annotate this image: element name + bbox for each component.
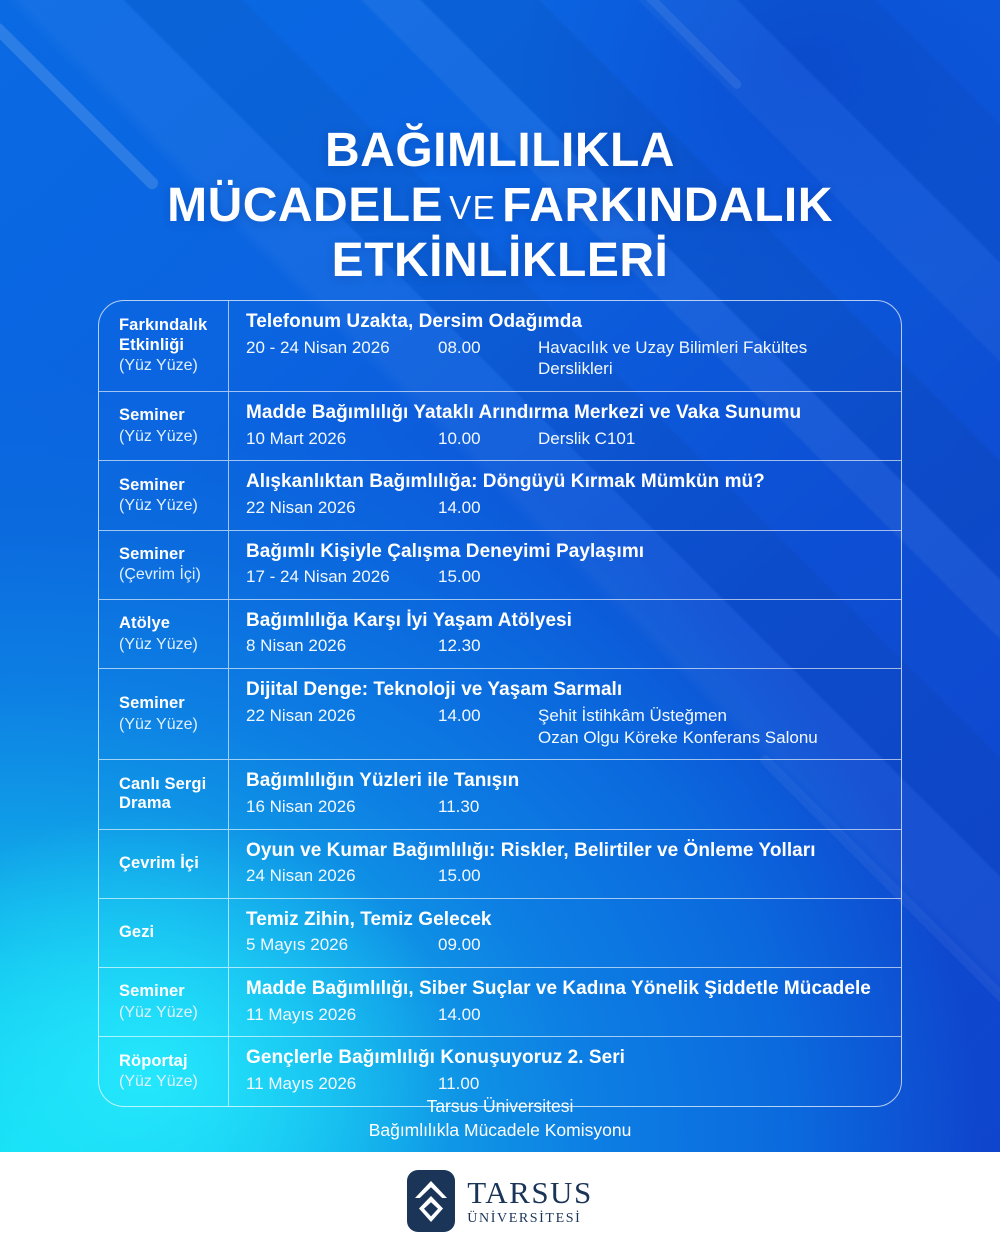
event-time: 14.00 — [438, 1004, 538, 1026]
table-row: GeziTemiz Zihin, Temiz Gelecek5 Mayıs 20… — [99, 899, 901, 968]
table-row: Seminer(Yüz Yüze)Dijital Denge: Teknoloj… — [99, 669, 901, 760]
event-time: 14.00 — [438, 705, 538, 727]
event-title: Bağımlılığın Yüzleri ile Tanışın — [246, 769, 887, 793]
table-row: Seminer(Yüz Yüze)Alışkanlıktan Bağımlılı… — [99, 461, 901, 530]
event-category-label: Gezi — [119, 923, 228, 942]
logo-sub-text: ÜNİVERSİTESİ — [467, 1212, 581, 1226]
event-date: 17 - 24 Nisan 2026 — [246, 566, 438, 588]
event-title: Madde Bağımlılığı Yataklı Arındırma Merk… — [246, 401, 887, 425]
event-date: 16 Nisan 2026 — [246, 796, 438, 818]
event-title: Gençlerle Bağımlılığı Konuşuyoruz 2. Ser… — [246, 1046, 887, 1070]
event-location: Derslik C101 — [538, 428, 887, 450]
event-details-cell: Madde Bağımlılığı, Siber Suçlar ve Kadın… — [229, 968, 901, 1036]
table-row: Atölye(Yüz Yüze)Bağımlılığa Karşı İyi Ya… — [99, 600, 901, 669]
event-location: Havacılık ve Uzay Bilimleri Fakültes Der… — [538, 337, 887, 381]
event-date: 10 Mart 2026 — [246, 428, 438, 450]
event-time: 14.00 — [438, 497, 538, 519]
title-line-2: MÜCADELEVEFARKINDALIK — [0, 179, 1000, 234]
event-time: 12.30 — [438, 635, 538, 657]
event-meta: 10 Mart 202610.00Derslik C101 — [246, 428, 887, 450]
event-meta: 24 Nisan 202615.00 — [246, 865, 887, 887]
logo-band: TARSUS ÜNİVERSİTESİ — [0, 1152, 1000, 1250]
event-details-cell: Bağımlı Kişiyle Çalışma Deneyimi Paylaşı… — [229, 531, 901, 599]
event-details-cell: Telefonum Uzakta, Dersim Odağımda20 - 24… — [229, 301, 901, 391]
event-date: 11 Mayıs 2026 — [246, 1073, 438, 1095]
event-mode-label: (Çevrim İçi) — [119, 565, 228, 584]
event-category-label: Farkındalık Etkinliği — [119, 316, 228, 355]
event-category-cell: Atölye(Yüz Yüze) — [99, 600, 229, 668]
table-row: Farkındalık Etkinliği(Yüz Yüze)Telefonum… — [99, 301, 901, 392]
event-meta: 11 Mayıs 202611.00 — [246, 1073, 887, 1095]
event-title: Temiz Zihin, Temiz Gelecek — [246, 908, 887, 932]
event-title: Telefonum Uzakta, Dersim Odağımda — [246, 310, 887, 334]
event-meta: 11 Mayıs 202614.00 — [246, 1004, 887, 1026]
event-category-label: Çevrim İçi — [119, 854, 228, 873]
event-time: 10.00 — [438, 428, 538, 450]
table-row: Seminer(Yüz Yüze)Madde Bağımlılığı, Sibe… — [99, 968, 901, 1037]
organization-credit: Tarsus Üniversitesi Bağımlılıkla Mücadel… — [0, 1094, 1000, 1142]
event-category-cell: Farkındalık Etkinliği(Yüz Yüze) — [99, 301, 229, 391]
event-date: 20 - 24 Nisan 2026 — [246, 337, 438, 359]
event-time: 08.00 — [438, 337, 538, 359]
event-category-label: Seminer — [119, 476, 228, 495]
title-word-mucadele: MÜCADELE — [167, 179, 443, 232]
event-category-label: Seminer — [119, 545, 228, 564]
table-row: Canlı Sergi DramaBağımlılığın Yüzleri il… — [99, 760, 901, 829]
event-meta: 5 Mayıs 202609.00 — [246, 934, 887, 956]
event-poster: BAĞIMLILIKLA MÜCADELEVEFARKINDALIK ETKİN… — [0, 0, 1000, 1250]
event-mode-label: (Yüz Yüze) — [119, 427, 228, 446]
event-details-cell: Bağımlılığın Yüzleri ile Tanışın16 Nisan… — [229, 760, 901, 828]
event-title: Bağımlı Kişiyle Çalışma Deneyimi Paylaşı… — [246, 540, 887, 564]
logo-wordmark: TARSUS ÜNİVERSİTESİ — [467, 1177, 592, 1226]
table-row: Seminer(Çevrim İçi)Bağımlı Kişiyle Çalış… — [99, 531, 901, 600]
page-title: BAĞIMLILIKLA MÜCADELEVEFARKINDALIK ETKİN… — [0, 124, 1000, 288]
title-line-1: BAĞIMLILIKLA — [0, 124, 1000, 179]
event-title: Dijital Denge: Teknoloji ve Yaşam Sarmal… — [246, 678, 887, 702]
event-meta: 8 Nisan 202612.30 — [246, 635, 887, 657]
event-time: 15.00 — [438, 865, 538, 887]
event-date: 22 Nisan 2026 — [246, 497, 438, 519]
event-details-cell: Alışkanlıktan Bağımlılığa: Döngüyü Kırma… — [229, 461, 901, 529]
event-category-label: Atölye — [119, 614, 228, 633]
event-mode-label: (Yüz Yüze) — [119, 356, 228, 375]
event-details-cell: Dijital Denge: Teknoloji ve Yaşam Sarmal… — [229, 669, 901, 759]
tarsus-university-logo: TARSUS ÜNİVERSİTESİ — [407, 1170, 592, 1232]
event-category-label: Röportaj — [119, 1052, 228, 1071]
event-details-cell: Temiz Zihin, Temiz Gelecek5 Mayıs 202609… — [229, 899, 901, 967]
event-category-label: Seminer — [119, 694, 228, 713]
event-title: Alışkanlıktan Bağımlılığa: Döngüyü Kırma… — [246, 470, 887, 494]
event-date: 22 Nisan 2026 — [246, 705, 438, 727]
table-row: Seminer(Yüz Yüze)Madde Bağımlılığı Yatak… — [99, 392, 901, 461]
organization-name: Tarsus Üniversitesi — [0, 1094, 1000, 1118]
event-category-cell: Seminer(Çevrim İçi) — [99, 531, 229, 599]
event-category-cell: Seminer(Yüz Yüze) — [99, 392, 229, 460]
event-title: Oyun ve Kumar Bağımlılığı: Riskler, Beli… — [246, 839, 887, 863]
event-time: 15.00 — [438, 566, 538, 588]
event-details-cell: Bağımlılığa Karşı İyi Yaşam Atölyesi8 Ni… — [229, 600, 901, 668]
event-time: 09.00 — [438, 934, 538, 956]
event-category-cell: Seminer(Yüz Yüze) — [99, 669, 229, 759]
event-mode-label: (Yüz Yüze) — [119, 496, 228, 515]
title-conjunction: VE — [443, 189, 502, 226]
logo-main-text: TARSUS — [467, 1177, 592, 1208]
title-word-farkindalik: FARKINDALIK — [502, 179, 833, 232]
event-date: 24 Nisan 2026 — [246, 865, 438, 887]
event-date: 8 Nisan 2026 — [246, 635, 438, 657]
event-details-cell: Madde Bağımlılığı Yataklı Arındırma Merk… — [229, 392, 901, 460]
event-mode-label: (Yüz Yüze) — [119, 1072, 228, 1091]
event-category-cell: Gezi — [99, 899, 229, 967]
event-mode-label: (Yüz Yüze) — [119, 715, 228, 734]
event-title: Bağımlılığa Karşı İyi Yaşam Atölyesi — [246, 609, 887, 633]
event-location: Şehit İstihkâm Üsteğmen Ozan Olgu Köreke… — [538, 705, 887, 749]
event-category-label: Seminer — [119, 406, 228, 425]
event-category-cell: Çevrim İçi — [99, 830, 229, 898]
events-table: Farkındalık Etkinliği(Yüz Yüze)Telefonum… — [98, 300, 902, 1107]
event-meta: 16 Nisan 202611.30 — [246, 796, 887, 818]
tarsus-arch-diamond-mark-icon — [407, 1170, 455, 1232]
event-mode-label: (Yüz Yüze) — [119, 635, 228, 654]
event-category-cell: Seminer(Yüz Yüze) — [99, 461, 229, 529]
event-meta: 22 Nisan 202614.00 — [246, 497, 887, 519]
event-meta: 20 - 24 Nisan 202608.00Havacılık ve Uzay… — [246, 337, 887, 381]
event-category-cell: Canlı Sergi Drama — [99, 760, 229, 828]
event-category-cell: Seminer(Yüz Yüze) — [99, 968, 229, 1036]
event-time: 11.30 — [438, 796, 538, 818]
event-meta: 17 - 24 Nisan 202615.00 — [246, 566, 887, 588]
event-details-cell: Oyun ve Kumar Bağımlılığı: Riskler, Beli… — [229, 830, 901, 898]
commission-name: Bağımlılıkla Mücadele Komisyonu — [0, 1118, 1000, 1142]
event-time: 11.00 — [438, 1073, 538, 1095]
event-category-label: Canlı Sergi Drama — [119, 775, 228, 814]
event-meta: 22 Nisan 202614.00Şehit İstihkâm Üsteğme… — [246, 705, 887, 749]
event-date: 11 Mayıs 2026 — [246, 1004, 438, 1026]
event-mode-label: (Yüz Yüze) — [119, 1003, 228, 1022]
event-date: 5 Mayıs 2026 — [246, 934, 438, 956]
title-line-3: ETKİNLİKLERİ — [0, 234, 1000, 289]
table-row: Çevrim İçiOyun ve Kumar Bağımlılığı: Ris… — [99, 830, 901, 899]
event-category-label: Seminer — [119, 982, 228, 1001]
event-title: Madde Bağımlılığı, Siber Suçlar ve Kadın… — [246, 977, 887, 1001]
